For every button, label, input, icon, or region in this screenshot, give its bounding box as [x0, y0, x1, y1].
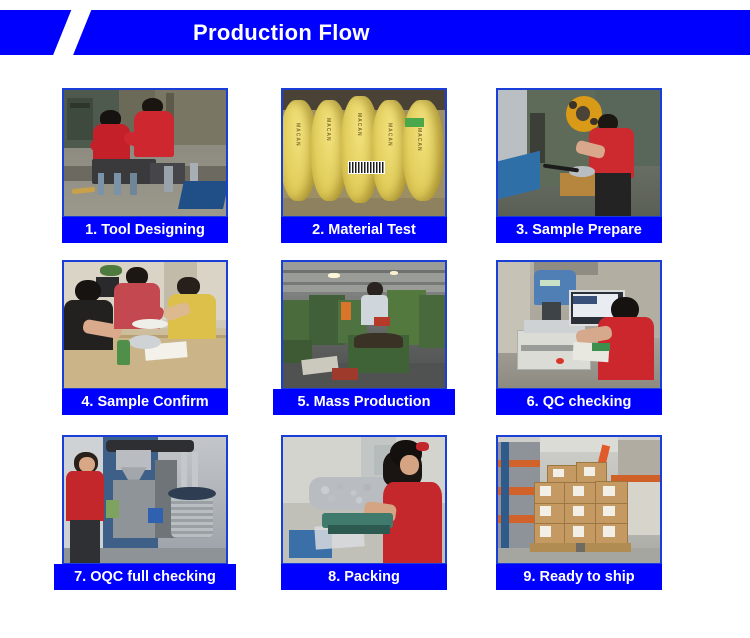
- tool-designing-scene: [64, 90, 226, 216]
- flow-step-2[interactable]: MACANMACAN MACANMACAN MACAN 2. Material …: [281, 88, 447, 244]
- mass-production-scene: [283, 262, 445, 388]
- packing-photo: [281, 435, 447, 565]
- qc-checking-scene: [498, 262, 660, 388]
- flow-step-8-label: 8. Packing: [281, 564, 447, 590]
- flow-step-9[interactable]: 9. Ready to ship: [496, 435, 662, 591]
- qc-checking-photo: [496, 260, 662, 390]
- flow-step-4-label: 4. Sample Confirm: [62, 389, 228, 415]
- flow-step-9-label: 9. Ready to ship: [496, 564, 662, 590]
- material-test-scene: MACANMACAN MACANMACAN MACAN: [283, 90, 445, 216]
- flow-step-6[interactable]: 6. QC checking: [496, 260, 662, 416]
- oqc-full-checking-photo: [62, 435, 228, 565]
- flow-step-3[interactable]: 3. Sample Prepare: [496, 88, 662, 244]
- page-title: Production Flow: [193, 10, 370, 55]
- flow-step-1-label: 1. Tool Designing: [62, 217, 228, 243]
- flow-step-4[interactable]: 4. Sample Confirm: [62, 260, 228, 416]
- header-banner: Production Flow: [0, 10, 750, 55]
- flow-step-6-label: 6. QC checking: [496, 389, 662, 415]
- production-flow-grid: 1. Tool Designing MACANMACAN MACANMACAN …: [0, 78, 750, 618]
- header-slash-decoration: [50, 10, 93, 55]
- flow-step-1[interactable]: 1. Tool Designing: [62, 88, 228, 244]
- flow-step-5[interactable]: 5. Mass Production: [281, 260, 447, 416]
- mass-production-photo: [281, 260, 447, 390]
- sample-confirm-scene: [64, 262, 226, 388]
- flow-step-3-label: 3. Sample Prepare: [496, 217, 662, 243]
- flow-step-7[interactable]: 7. OQC full checking: [62, 435, 228, 591]
- material-test-photo: MACANMACAN MACANMACAN MACAN: [281, 88, 447, 218]
- sample-prepare-scene: [498, 90, 660, 216]
- ready-to-ship-photo: [496, 435, 662, 565]
- flow-step-7-label: 7. OQC full checking: [54, 564, 236, 590]
- ready-to-ship-scene: [498, 437, 660, 563]
- oqc-full-checking-scene: [64, 437, 226, 563]
- flow-step-5-label: 5. Mass Production: [273, 389, 455, 415]
- sample-prepare-photo: [496, 88, 662, 218]
- flow-step-8[interactable]: 8. Packing: [281, 435, 447, 591]
- tool-designing-photo: [62, 88, 228, 218]
- sample-confirm-photo: [62, 260, 228, 390]
- packing-scene: [283, 437, 445, 563]
- flow-step-2-label: 2. Material Test: [281, 217, 447, 243]
